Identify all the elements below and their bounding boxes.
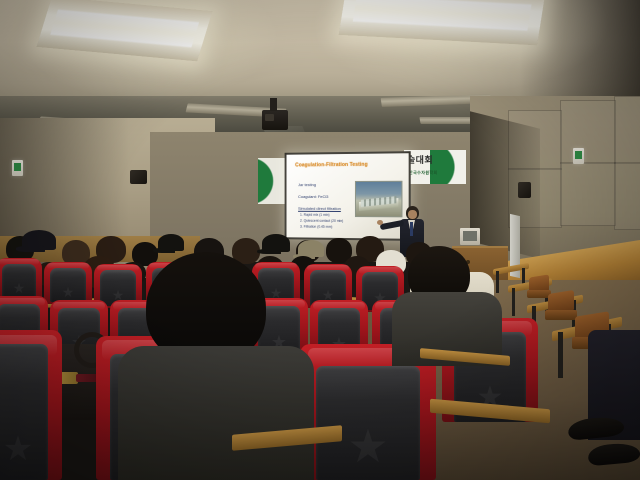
- banner-right: 술대회 한국수자원학회: [404, 150, 466, 184]
- projector-icon: [262, 110, 288, 130]
- foreground-person-shoulders: [118, 346, 314, 480]
- seat: ★: [0, 258, 42, 300]
- slide-line-2: Coagulant: FeCl3: [298, 194, 328, 199]
- presenter-face: [408, 210, 417, 219]
- banner-left: [258, 158, 288, 204]
- slide-step-2: 2. Quiescent contact (20 min): [300, 219, 343, 223]
- presenter-tie: [410, 222, 413, 236]
- presenter-hand: [377, 220, 383, 225]
- seat: ★: [44, 262, 92, 304]
- banner-right-subtext: 한국수자원학회: [409, 170, 438, 176]
- audience-cap-beige: [298, 240, 324, 257]
- seat-foreground: ★: [0, 330, 62, 480]
- slide-title: Coagulation-Filtration Testing: [295, 162, 368, 169]
- wall-speaker-right: [518, 182, 531, 198]
- lecture-hall-photo: 술대회 한국수자원학회 Coagulation-Filtration Testi…: [0, 0, 640, 480]
- slide-step-1: 1. Rapid mix (1 min): [300, 213, 330, 217]
- exit-sign-icon-right: [573, 148, 584, 164]
- slide-line-1: Jar testing: [298, 182, 316, 187]
- banner-right-text: 술대회: [407, 153, 433, 166]
- wall-speaker-left: [130, 170, 147, 184]
- front-monitor: [460, 228, 480, 245]
- audience-cap: [22, 230, 56, 250]
- slide-line-3: Simulated direct filtration: [298, 206, 341, 211]
- audience-cap: [158, 234, 184, 251]
- audience-cap: [262, 234, 290, 252]
- slide-step-3: 3. Filtration (0.45 mm): [300, 225, 332, 229]
- exit-sign-icon-left: [12, 160, 23, 176]
